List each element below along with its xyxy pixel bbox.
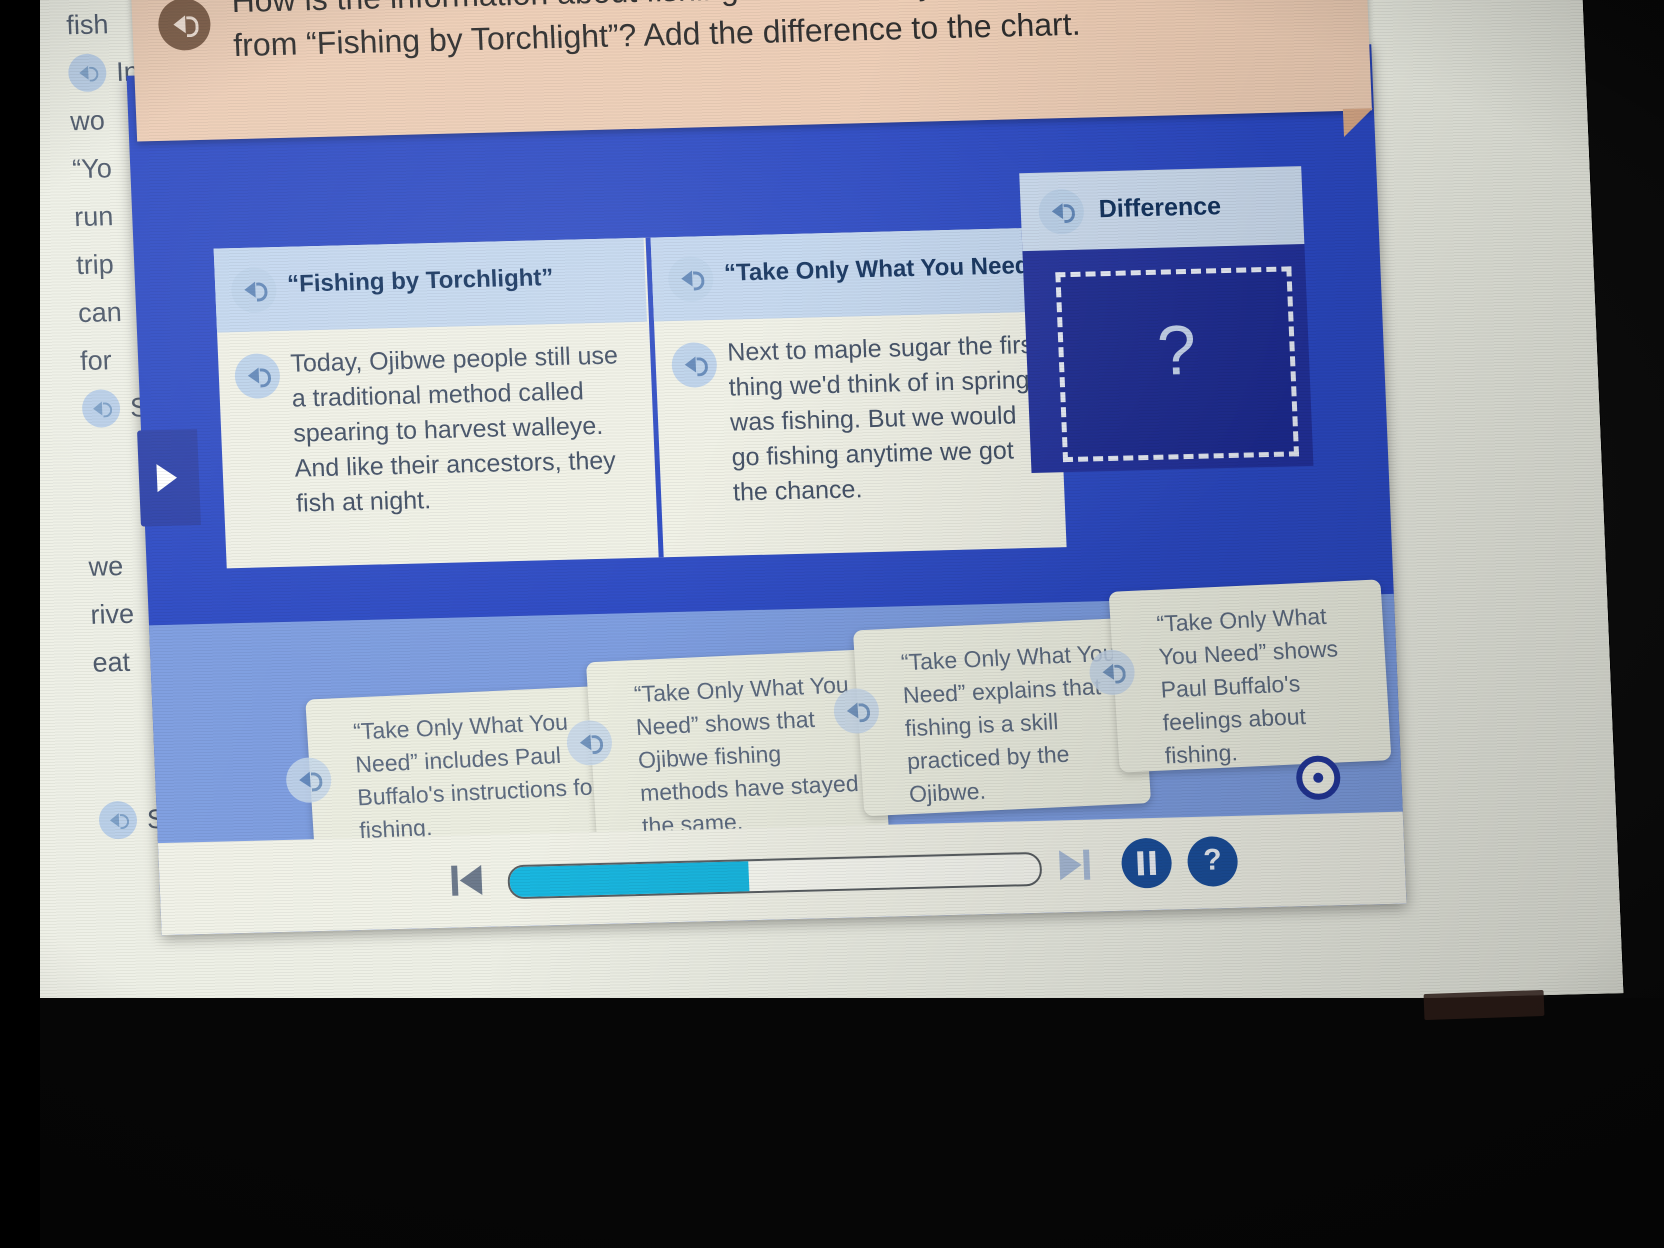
speaker-icon[interactable]: [234, 353, 281, 399]
speaker-icon[interactable]: [81, 389, 121, 428]
photographed-screen: i-Ready fish In s wo “Yo run trip can fo…: [0, 0, 1664, 1248]
speaker-icon[interactable]: [667, 256, 714, 302]
play-triangle-icon: [156, 464, 177, 492]
answer-card-text: “Take Only What You Need” shows that Oji…: [633, 671, 859, 839]
pause-button[interactable]: [1121, 838, 1173, 889]
column-header-label: Difference: [1098, 192, 1221, 224]
answer-card-text: “Take Only What You Need” explains that …: [900, 639, 1116, 807]
question-text: How is the information about fishing in …: [231, 0, 1324, 67]
answer-card-text: “Take Only What You Need” includes Paul …: [352, 709, 600, 844]
banner-fold: [1343, 108, 1374, 137]
next-page-tab[interactable]: [137, 429, 201, 526]
rewind-to-start-icon[interactable]: [451, 866, 458, 896]
help-button[interactable]: ?: [1187, 836, 1239, 887]
progress-fill: [509, 861, 749, 897]
progress-track[interactable]: [507, 852, 1042, 899]
answer-card-text: “Take Only What You Need” shows Paul Buf…: [1156, 603, 1339, 769]
speaker-icon[interactable]: [1038, 189, 1085, 235]
speaker-icon[interactable]: [671, 342, 718, 388]
chart-cell-text: Next to maple sugar the first thing we'd…: [727, 328, 1051, 511]
screen-surface: i-Ready fish In s wo “Yo run trip can fo…: [0, 0, 1623, 1034]
desk-shadow: [0, 998, 1664, 1248]
speaker-icon[interactable]: [68, 53, 108, 92]
skip-forward-icon[interactable]: [1083, 850, 1090, 880]
chart-header-cell-2: “Take Only What You Need”: [651, 227, 1057, 321]
chart-cell-2: Next to maple sugar the first thing we'd…: [654, 311, 1067, 557]
difference-header: Difference: [1019, 166, 1304, 251]
help-icon: ?: [1187, 843, 1238, 878]
pause-icon: [1136, 851, 1157, 875]
left-dark-edge: [0, 0, 40, 1248]
iready-page: i-Ready fish In s wo “Yo run trip can fo…: [0, 0, 1623, 1033]
answer-dropzone[interactable]: ?: [1055, 266, 1299, 462]
column-header-label: “Fishing by Torchlight”: [287, 264, 554, 299]
comparison-chart: “Fishing by Torchlight” “Take Only What …: [214, 227, 1067, 568]
speaker-icon[interactable]: [157, 0, 211, 51]
chart-header-cell-1: “Fishing by Torchlight”: [214, 238, 647, 333]
activity-panel: “Fishing by Torchlight” “Take Only What …: [126, 44, 1406, 935]
speaker-icon[interactable]: [230, 267, 277, 313]
difference-column: Difference ?: [1019, 166, 1313, 473]
chart-cell-text: Today, Ojibwe people still use a traditi…: [290, 338, 641, 522]
speaker-icon[interactable]: [98, 801, 138, 840]
chart-cell-1: Today, Ojibwe people still use a traditi…: [217, 322, 657, 569]
answer-card[interactable]: “Take Only What You Need” shows that Oji…: [586, 649, 889, 853]
skip-forward-icon[interactable]: [1059, 850, 1082, 881]
rewind-to-start-icon[interactable]: [459, 865, 482, 896]
answer-card[interactable]: “Take Only What You Need” shows Paul Buf…: [1109, 579, 1392, 772]
dropzone-placeholder: ?: [1062, 307, 1291, 393]
answer-card[interactable]: “Take Only What You Need” explains that …: [853, 617, 1151, 816]
desk-reflection: [1424, 990, 1545, 1020]
column-header-label: “Take Only What You Need”: [724, 252, 1042, 288]
